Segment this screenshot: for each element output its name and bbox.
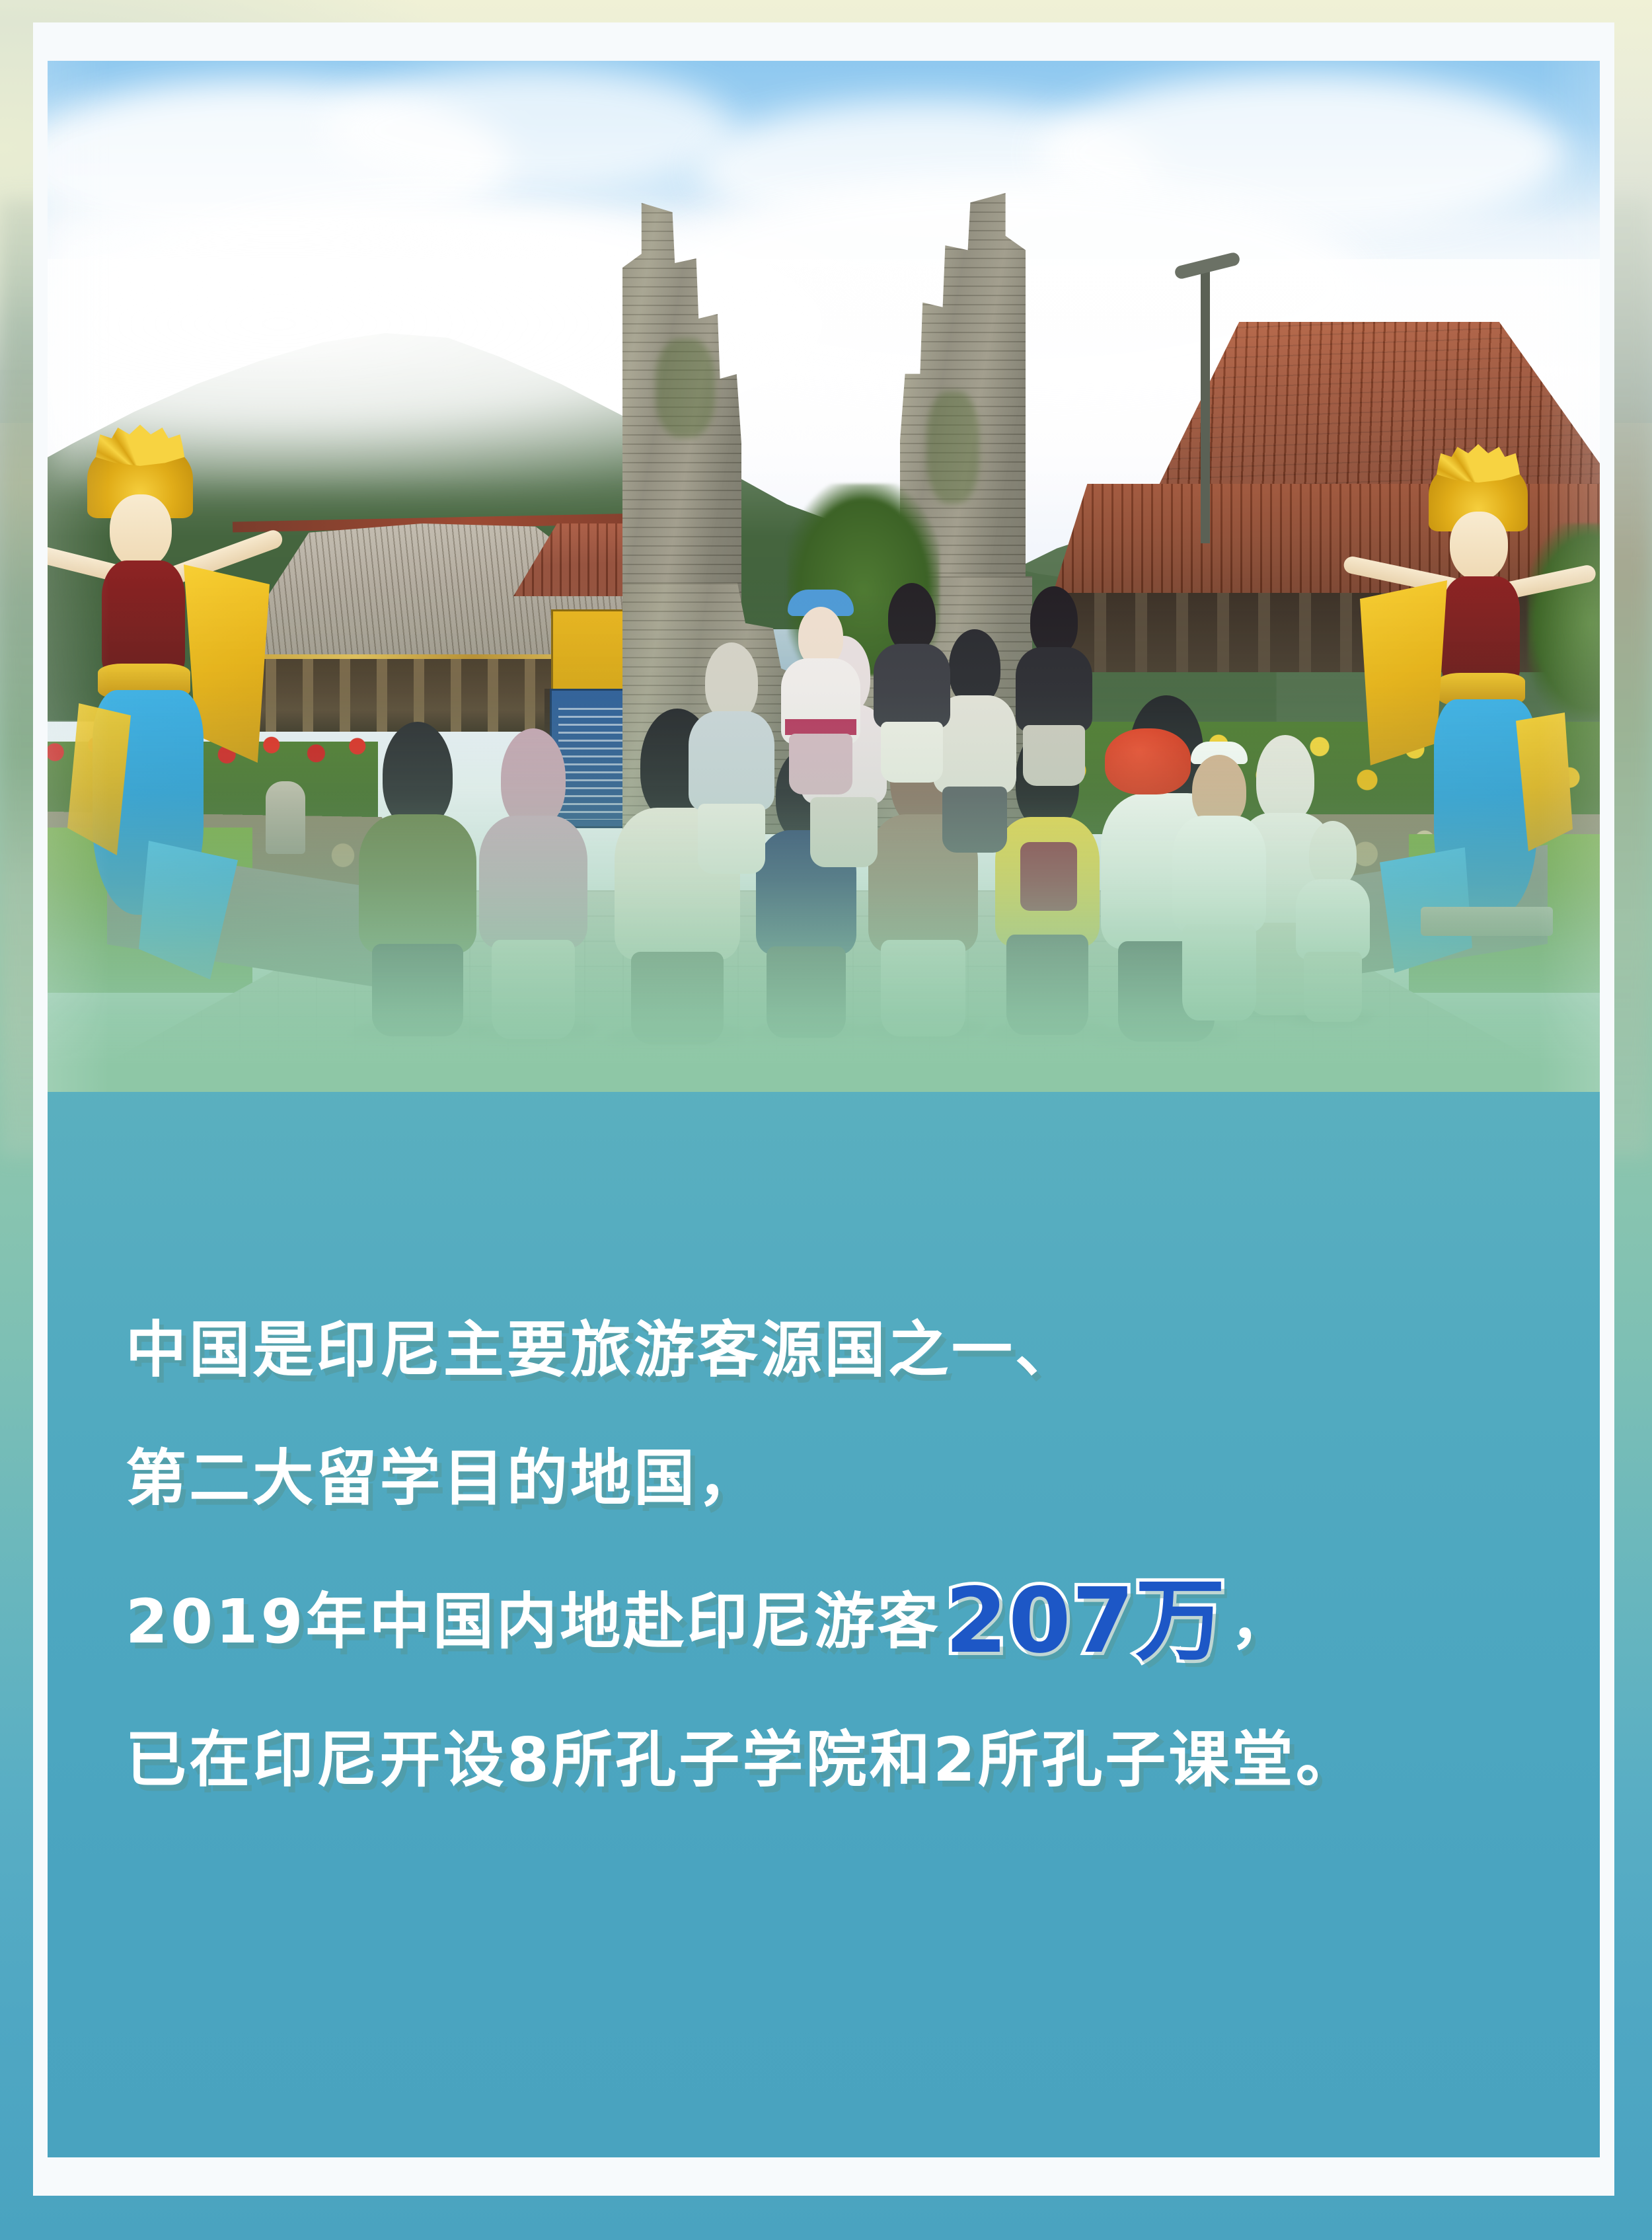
balinese-dancer-statue-right bbox=[1349, 451, 1567, 933]
headline-line-1: 中国是印尼主要旅游客源国之一、 bbox=[126, 1320, 1526, 1381]
tourist-hat bbox=[774, 590, 867, 788]
cloud bbox=[325, 67, 735, 193]
poster-root: 中国是印尼主要旅游客源国之一、 第二大留学目的地国， 2019年中国内地赴印尼游… bbox=[0, 0, 1652, 2240]
street-lamp-pole bbox=[1201, 266, 1210, 543]
hero-photograph bbox=[48, 61, 1600, 1092]
dancer-torso bbox=[1442, 576, 1520, 689]
tourist bbox=[867, 583, 956, 775]
dancer-face bbox=[110, 494, 172, 568]
poster-inner-panel: 中国是印尼主要旅游客源国之一、 第二大留学目的地国， 2019年中国内地赴印尼游… bbox=[48, 61, 1600, 2157]
tourist-child bbox=[1290, 821, 1376, 1019]
statue-pedestal bbox=[1421, 907, 1553, 936]
headline-line-4: 已在印尼开设8所孔子学院和2所孔子课堂。 bbox=[126, 1730, 1526, 1791]
headline-block: 中国是印尼主要旅游客源国之一、 第二大留学目的地国， 2019年中国内地赴印尼游… bbox=[126, 1320, 1526, 1791]
waist-sash bbox=[785, 719, 856, 735]
headline-line-3-prefix: 2019年中国内地赴印尼游客 bbox=[126, 1586, 941, 1657]
backpack bbox=[1020, 842, 1077, 911]
headline-line-2: 第二大留学目的地国， bbox=[126, 1448, 1526, 1509]
headline-line-3: 2019年中国内地赴印尼游客207万， bbox=[126, 1576, 1526, 1666]
balinese-dancer-statue-left bbox=[61, 431, 272, 933]
tourist bbox=[470, 728, 596, 1032]
dancer-face bbox=[1450, 512, 1508, 580]
headline-line-3-suffix: ， bbox=[1230, 1586, 1293, 1657]
tourist bbox=[348, 722, 487, 1032]
tourist bbox=[1009, 586, 1098, 778]
dancer-torso bbox=[102, 560, 185, 679]
gate-moss bbox=[656, 338, 715, 438]
highlight-number-207wan: 207万 bbox=[941, 1569, 1230, 1674]
tourist bbox=[682, 642, 781, 867]
red-offering-bundle bbox=[1105, 728, 1191, 794]
